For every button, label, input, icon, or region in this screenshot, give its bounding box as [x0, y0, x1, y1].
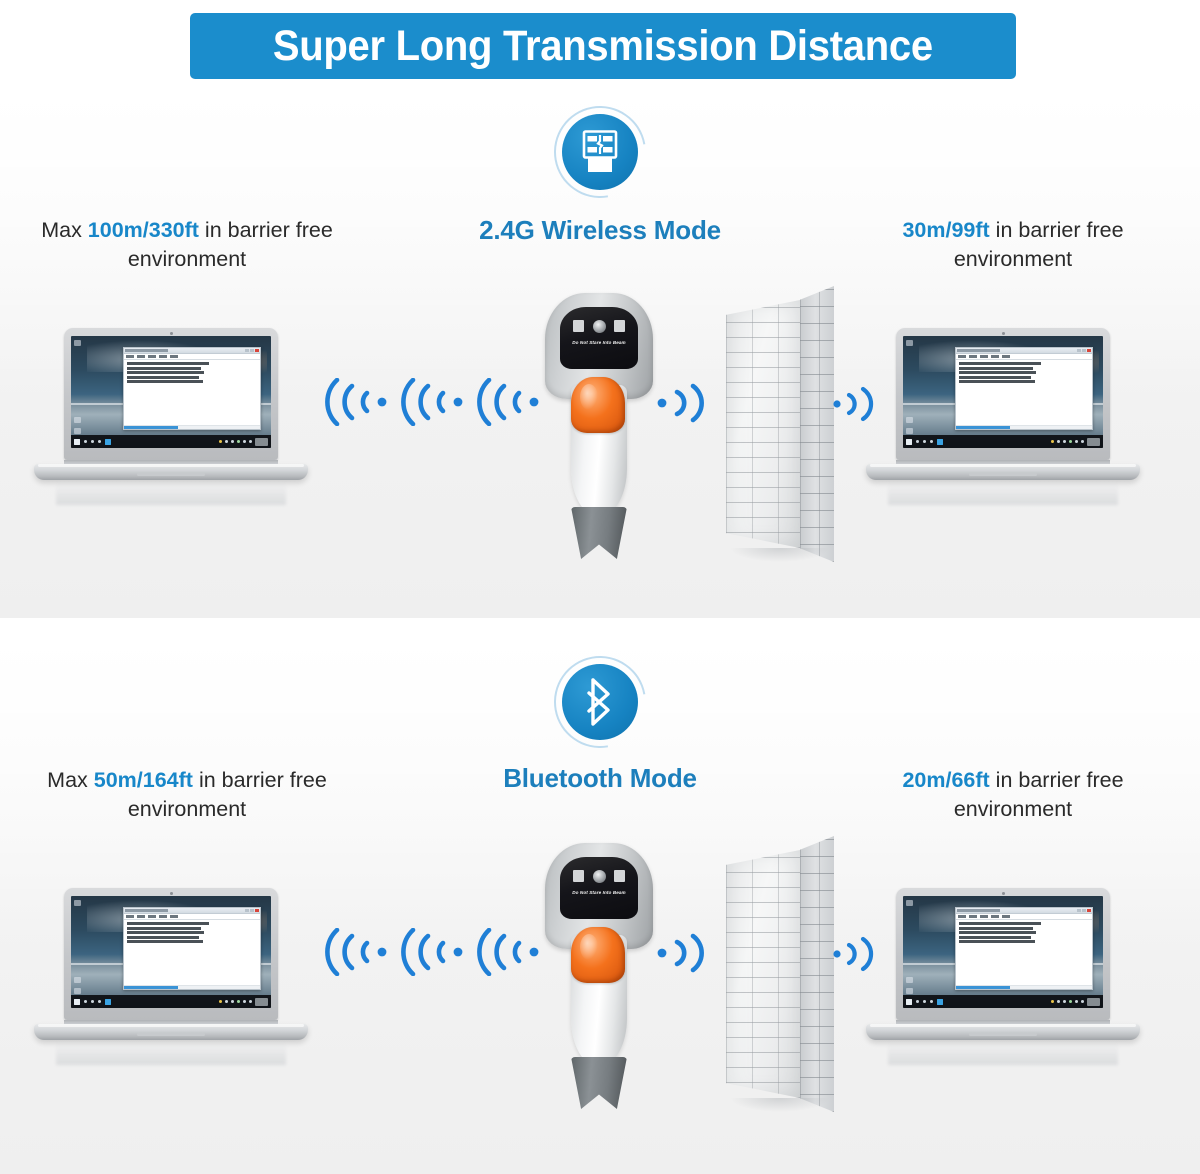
- webcam-icon: [1002, 892, 1005, 895]
- data-line: [127, 380, 203, 383]
- search-icon: [84, 1000, 87, 1003]
- barcode-data-window[interactable]: [955, 907, 1093, 990]
- horizontal-scrollbar[interactable]: [956, 985, 1092, 989]
- laptop-base: [866, 464, 1140, 480]
- tray-icon: [1057, 440, 1060, 443]
- minimize-icon: [245, 909, 249, 913]
- minimize-icon: [1077, 349, 1081, 353]
- laptop-reflection: [888, 1043, 1118, 1065]
- caption-distance: 50m/164ft: [94, 768, 193, 792]
- taskbar-left[interactable]: [903, 439, 943, 445]
- explorer-icon: [105, 439, 111, 445]
- menu-item: [159, 355, 167, 358]
- cortana-icon: [91, 440, 94, 443]
- scanner-base: [571, 507, 627, 559]
- tray-icon: [231, 440, 234, 443]
- base-lip: [38, 1024, 304, 1027]
- barcode-data-window[interactable]: [123, 347, 261, 430]
- data-line: [127, 940, 203, 943]
- base-lip: [870, 464, 1136, 467]
- desktop-icon[interactable]: [74, 900, 81, 906]
- data-line: [127, 376, 199, 379]
- menu-item: [958, 355, 966, 358]
- scanner-warning-label: Do Not Stare Into Beam: [560, 340, 638, 345]
- tray-icon: [1069, 1000, 1072, 1003]
- tray-icon: [219, 1000, 222, 1003]
- laptop-screen: [71, 336, 271, 448]
- laptop-reflection: [56, 1043, 286, 1065]
- clock: [1087, 438, 1100, 446]
- explorer-icon: [105, 999, 111, 1005]
- task-view-icon: [930, 440, 933, 443]
- caption-right-bluetooth: 20m/66ft in barrier free environment: [848, 766, 1178, 824]
- tray-icon: [243, 440, 246, 443]
- system-tray[interactable]: [1051, 998, 1103, 1006]
- laptop-lid: [64, 328, 278, 460]
- menu-item: [148, 355, 156, 358]
- caption-distance: 20m/66ft: [902, 768, 989, 792]
- task-view-icon: [930, 1000, 933, 1003]
- task-view-icon: [98, 440, 101, 443]
- clock: [255, 998, 268, 1006]
- tray-icon: [1051, 440, 1054, 443]
- data-lines: [124, 360, 260, 383]
- close-icon: [255, 349, 259, 353]
- tray-icon: [1063, 440, 1066, 443]
- lens-icon: [593, 870, 606, 883]
- scrollbar-thumb: [956, 426, 1010, 429]
- base-notch: [137, 473, 205, 476]
- cortana-icon: [923, 1000, 926, 1003]
- data-line: [959, 371, 1036, 374]
- data-line: [127, 367, 201, 370]
- laptop-lid: [896, 328, 1110, 460]
- scanner-trigger-button[interactable]: [571, 377, 625, 433]
- wall-shadow: [730, 548, 830, 562]
- data-line: [959, 927, 1033, 930]
- scrollbar-thumb: [956, 986, 1010, 989]
- data-line: [127, 936, 199, 939]
- laptop-lid: [896, 888, 1110, 1020]
- laptop-right-bluetooth: [866, 888, 1140, 1048]
- laptop-reflection: [888, 483, 1118, 505]
- scanner-window: Do Not Stare Into Beam: [560, 307, 638, 369]
- tray-icon: [1075, 1000, 1078, 1003]
- system-tray[interactable]: [219, 998, 271, 1006]
- desktop-icon[interactable]: [74, 428, 81, 434]
- menu-item: [980, 915, 988, 918]
- menu-item: [126, 355, 134, 358]
- desktop-icon[interactable]: [906, 340, 913, 346]
- tray-icon: [1063, 1000, 1066, 1003]
- lens-icon: [593, 320, 606, 333]
- window-title: [957, 909, 1000, 912]
- data-line: [959, 936, 1031, 939]
- taskbar-left[interactable]: [71, 999, 111, 1005]
- close-icon: [1087, 349, 1091, 353]
- system-tray[interactable]: [1051, 438, 1103, 446]
- desktop-icon[interactable]: [74, 417, 81, 423]
- caption-distance: 100m/330ft: [88, 218, 199, 242]
- window-title: [125, 349, 168, 352]
- data-line: [959, 376, 1031, 379]
- clock: [255, 438, 268, 446]
- laptop-screen: [71, 896, 271, 1008]
- cortana-icon: [923, 440, 926, 443]
- wall-shadow: [730, 1098, 830, 1112]
- taskbar[interactable]: [903, 435, 1103, 448]
- taskbar-left[interactable]: [903, 999, 943, 1005]
- data-line: [127, 931, 204, 934]
- explorer-icon: [937, 439, 943, 445]
- laptop-screen: [903, 336, 1103, 448]
- laptop-base: [34, 464, 308, 480]
- search-icon: [916, 1000, 919, 1003]
- scanner-optics: [573, 869, 625, 883]
- menu-item: [1002, 355, 1010, 358]
- base-notch: [969, 1033, 1037, 1036]
- tray-icon: [225, 1000, 228, 1003]
- tray-icon: [1051, 1000, 1054, 1003]
- tray-icon: [243, 1000, 246, 1003]
- data-line: [127, 371, 204, 374]
- wall-side-face: [800, 836, 834, 1112]
- caption-right-wireless: 30m/99ft in barrier free environment: [848, 216, 1178, 274]
- search-icon: [84, 440, 87, 443]
- signal-waves-left-wireless: [325, 378, 553, 426]
- system-tray[interactable]: [219, 438, 271, 446]
- data-line: [959, 362, 1041, 365]
- taskbar[interactable]: [71, 435, 271, 448]
- data-line: [959, 380, 1035, 383]
- mode-title-wireless: 2.4G Wireless Mode: [420, 215, 780, 246]
- tray-icon: [249, 440, 252, 443]
- data-line: [959, 931, 1036, 934]
- menu-item: [980, 355, 988, 358]
- menu-item: [137, 355, 145, 358]
- barcode-data-window[interactable]: [955, 347, 1093, 430]
- tray-icon: [231, 1000, 234, 1003]
- laptop-screen: [903, 896, 1103, 1008]
- window-controls[interactable]: [245, 909, 259, 913]
- base-notch: [137, 1033, 205, 1036]
- menu-item: [969, 355, 977, 358]
- webcam-icon: [170, 332, 173, 335]
- infographic-page: Super Long Transmission Distance 2.4G Wi…: [0, 0, 1200, 1174]
- laptop-lid: [64, 888, 278, 1020]
- data-lines: [956, 920, 1092, 943]
- mode-title-bluetooth: Bluetooth Mode: [420, 763, 780, 794]
- barcode-scanner-bluetooth: Do Not Stare Into Beam: [537, 843, 661, 1109]
- tray-icon: [1057, 1000, 1060, 1003]
- tray-icon: [1081, 440, 1084, 443]
- laptop-base: [866, 1024, 1140, 1040]
- laptop-right-wireless: [866, 328, 1140, 488]
- scanner-trigger-button[interactable]: [571, 927, 625, 983]
- webcam-icon: [1002, 332, 1005, 335]
- window-title: [125, 909, 168, 912]
- icon-disc: [562, 664, 638, 740]
- laptop-base: [34, 1024, 308, 1040]
- menu-item: [991, 915, 999, 918]
- usb-receiver-icon: [554, 106, 646, 198]
- desktop-icon[interactable]: [906, 900, 913, 906]
- horizontal-scrollbar[interactable]: [124, 425, 260, 429]
- menu-item: [170, 915, 178, 918]
- caption-left-bluetooth: Max 50m/164ft in barrier free environmen…: [22, 766, 352, 824]
- menu-item: [1002, 915, 1010, 918]
- laptop-left-wireless: [34, 328, 308, 488]
- caption-left-wireless: Max 100m/330ft in barrier free environme…: [22, 216, 352, 274]
- taskbar[interactable]: [903, 995, 1103, 1008]
- horizontal-scrollbar[interactable]: [124, 985, 260, 989]
- menu-item: [991, 355, 999, 358]
- menu-item: [148, 915, 156, 918]
- tray-icon: [237, 440, 240, 443]
- scanner-optics: [573, 319, 625, 333]
- menu-item: [170, 355, 178, 358]
- caption-distance: 30m/99ft: [902, 218, 989, 242]
- icon-disc: [562, 114, 638, 190]
- task-view-icon: [98, 1000, 101, 1003]
- maximize-icon: [1082, 349, 1086, 353]
- desktop-icon[interactable]: [74, 988, 81, 994]
- maximize-icon: [250, 349, 254, 353]
- scanner-window: Do Not Stare Into Beam: [560, 857, 638, 919]
- desktop-icon[interactable]: [906, 428, 913, 434]
- base-lip: [870, 1024, 1136, 1027]
- wall-front-face: [726, 850, 800, 1098]
- data-lines: [124, 920, 260, 943]
- laptop-reflection: [56, 483, 286, 505]
- data-line: [959, 940, 1035, 943]
- menu-item: [969, 915, 977, 918]
- tray-icon: [1081, 1000, 1084, 1003]
- webcam-icon: [170, 892, 173, 895]
- data-line: [959, 922, 1041, 925]
- start-icon: [906, 999, 912, 1005]
- tray-icon: [225, 440, 228, 443]
- window-controls[interactable]: [1077, 349, 1091, 353]
- signal-waves-mid-bluetooth: [655, 930, 717, 976]
- taskbar-left[interactable]: [71, 439, 111, 445]
- tray-icon: [249, 1000, 252, 1003]
- tray-icon: [1075, 440, 1078, 443]
- menu-item: [958, 915, 966, 918]
- search-icon: [916, 440, 919, 443]
- scanner-warning-label: Do Not Stare Into Beam: [560, 890, 638, 895]
- maximize-icon: [1082, 909, 1086, 913]
- explorer-icon: [937, 999, 943, 1005]
- caption-prefix: Max: [47, 768, 94, 792]
- data-line: [959, 367, 1033, 370]
- tray-icon: [219, 440, 222, 443]
- menu-item: [126, 915, 134, 918]
- caption-prefix: Max: [41, 218, 88, 242]
- desktop-icon[interactable]: [906, 988, 913, 994]
- window-controls[interactable]: [245, 349, 259, 353]
- wall-front-face: [726, 300, 800, 548]
- data-line: [127, 362, 209, 365]
- page-title: Super Long Transmission Distance: [273, 22, 933, 71]
- data-line: [127, 927, 201, 930]
- desktop-icon[interactable]: [74, 977, 81, 983]
- tray-icon: [237, 1000, 240, 1003]
- minimize-icon: [245, 349, 249, 353]
- cortana-icon: [91, 1000, 94, 1003]
- close-icon: [255, 909, 259, 913]
- signal-waves-left-bluetooth: [325, 928, 553, 976]
- close-icon: [1087, 909, 1091, 913]
- horizontal-scrollbar[interactable]: [956, 425, 1092, 429]
- start-icon: [74, 439, 80, 445]
- wall-side-face: [800, 286, 834, 562]
- tray-icon: [1069, 440, 1072, 443]
- window-controls[interactable]: [1077, 909, 1091, 913]
- data-line: [127, 922, 209, 925]
- bluetooth-icon: [554, 656, 646, 748]
- base-lip: [38, 464, 304, 467]
- taskbar[interactable]: [71, 995, 271, 1008]
- menu-item: [159, 915, 167, 918]
- start-icon: [74, 999, 80, 1005]
- maximize-icon: [250, 909, 254, 913]
- brick-wall-barrier-wireless: [726, 286, 838, 554]
- scrollbar-thumb: [124, 426, 178, 429]
- start-icon: [906, 439, 912, 445]
- minimize-icon: [1077, 909, 1081, 913]
- barcode-scanner-wireless: Do Not Stare Into Beam: [537, 293, 661, 559]
- laptop-left-bluetooth: [34, 888, 308, 1048]
- data-lines: [956, 360, 1092, 383]
- desktop-icon[interactable]: [906, 417, 913, 423]
- signal-waves-mid-wireless: [655, 380, 717, 426]
- scanner-base: [571, 1057, 627, 1109]
- window-title: [957, 349, 1000, 352]
- desktop-icon[interactable]: [74, 340, 81, 346]
- barcode-data-window[interactable]: [123, 907, 261, 990]
- scrollbar-thumb: [124, 986, 178, 989]
- base-notch: [969, 473, 1037, 476]
- title-banner: Super Long Transmission Distance: [190, 13, 1016, 79]
- clock: [1087, 998, 1100, 1006]
- menu-item: [137, 915, 145, 918]
- desktop-icon[interactable]: [906, 977, 913, 983]
- brick-wall-barrier-bluetooth: [726, 836, 838, 1104]
